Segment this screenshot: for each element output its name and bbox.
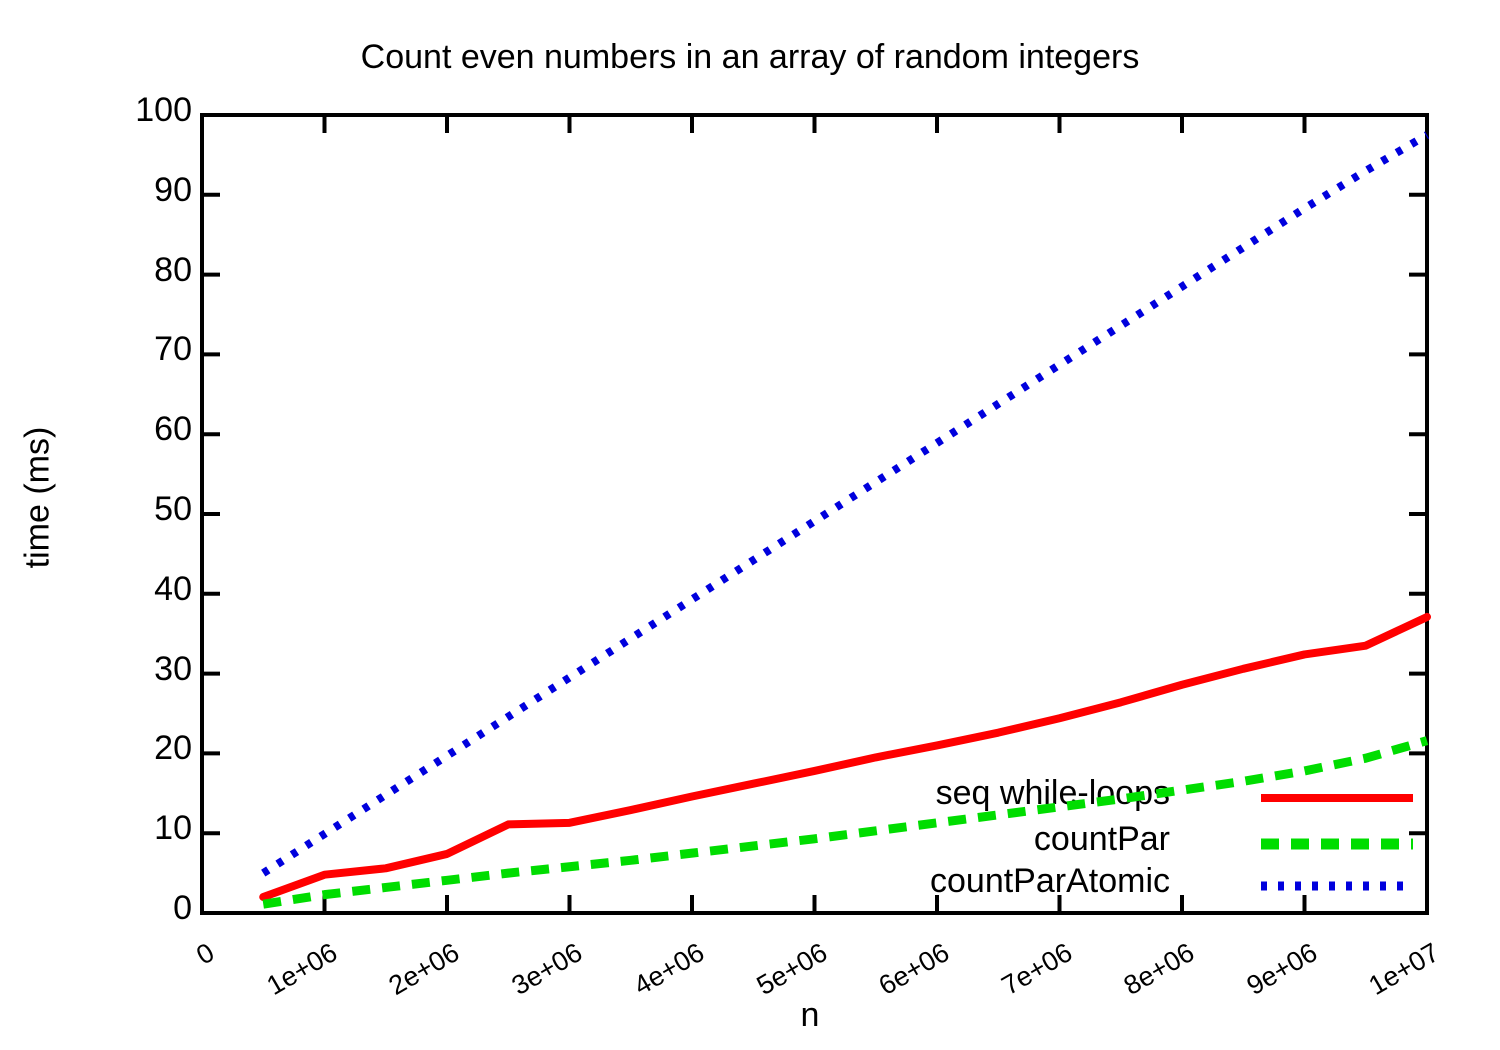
plot-canvas xyxy=(0,0,1500,1050)
plot-series xyxy=(263,135,1427,904)
chart-figure: Count even numbers in an array of random… xyxy=(0,0,1500,1050)
legend-line-samples xyxy=(1261,798,1413,886)
plot-axes xyxy=(202,115,1427,913)
